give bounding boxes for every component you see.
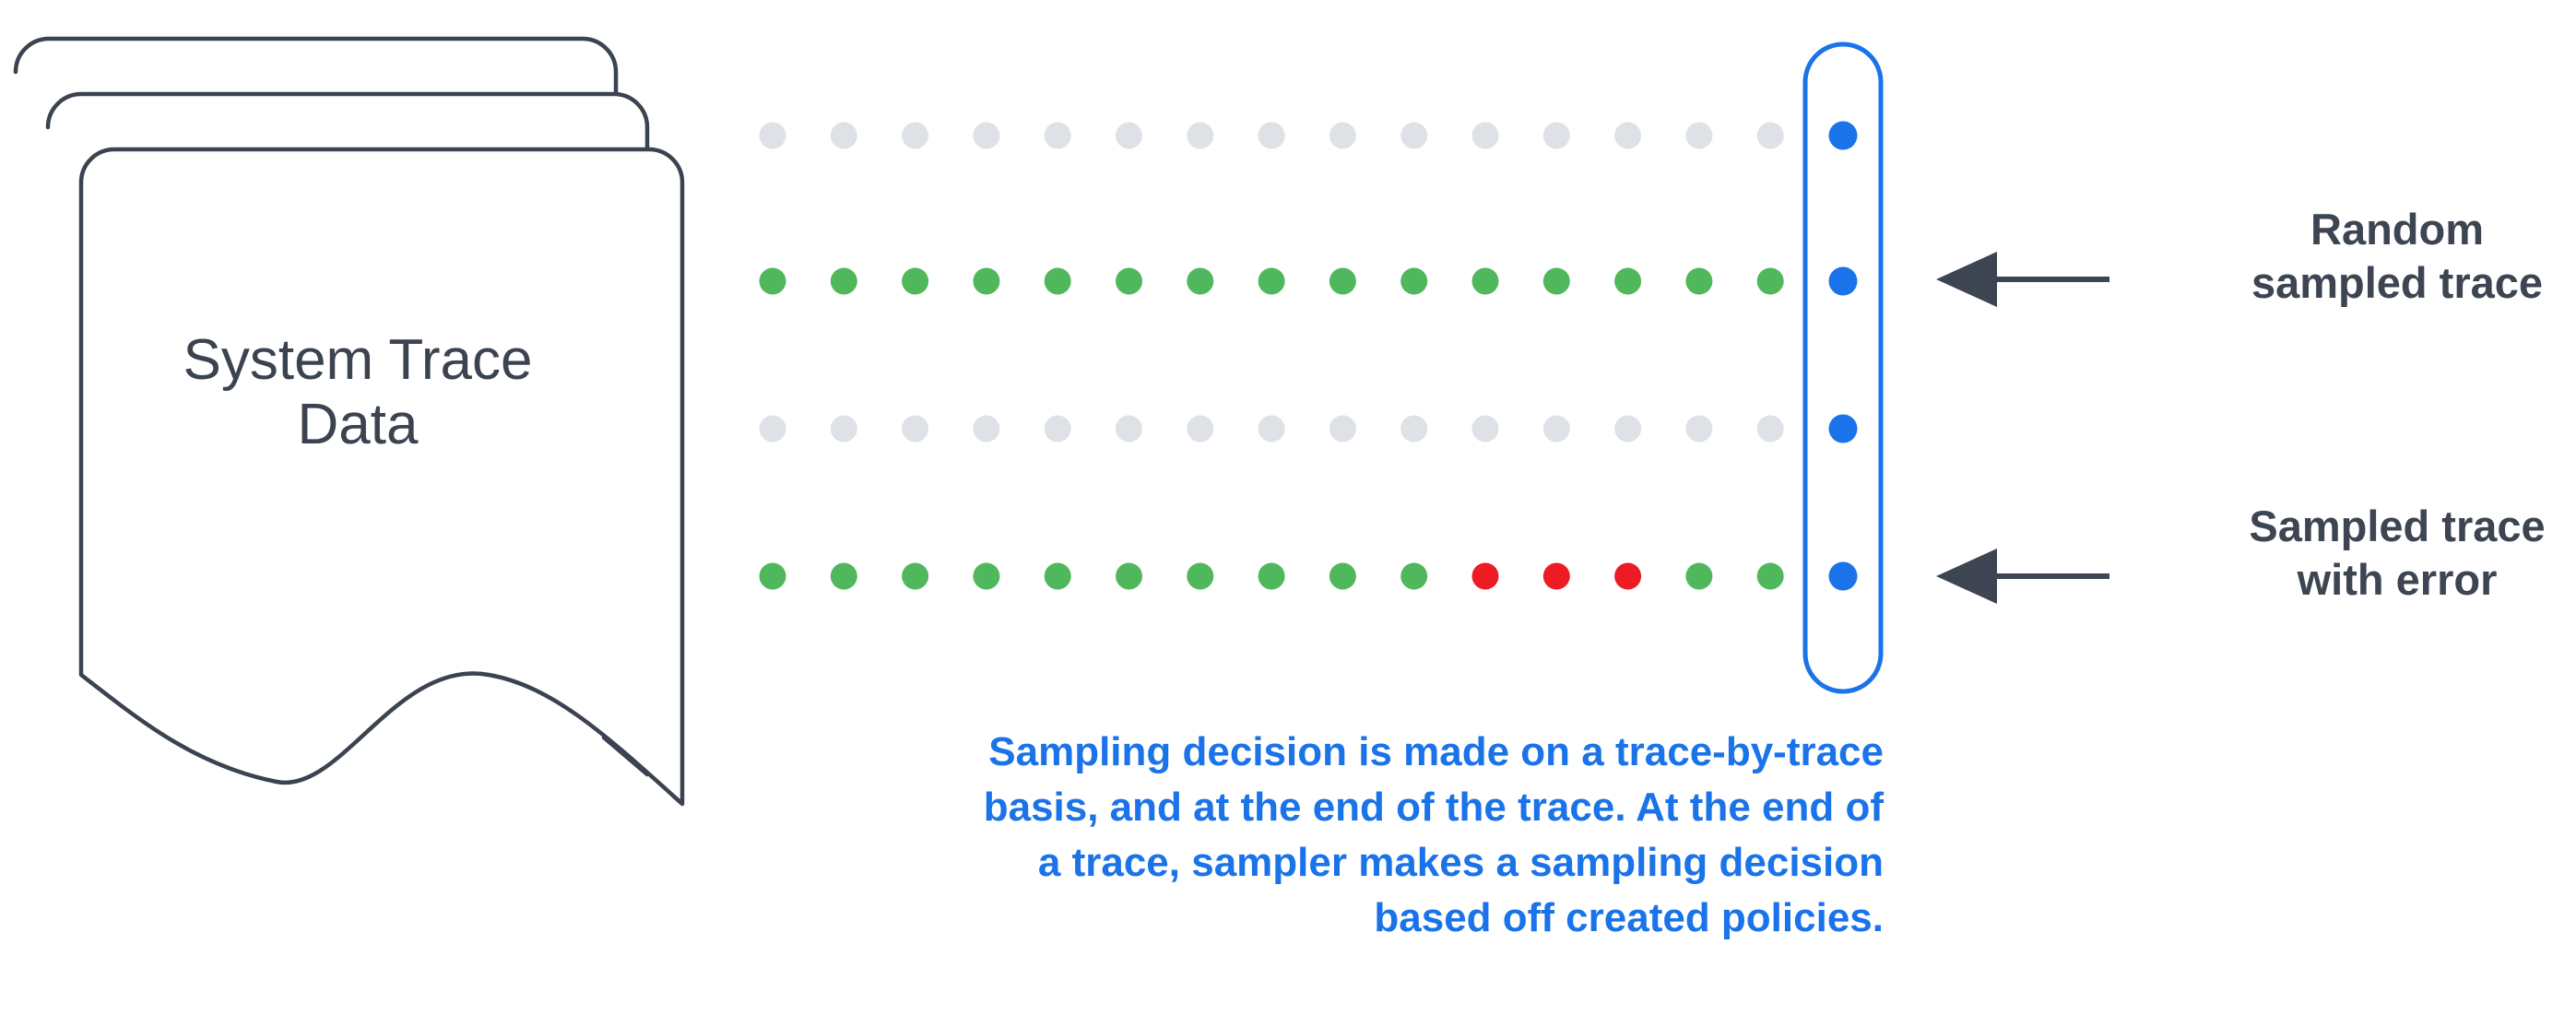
annotation-sampled-trace-with-error: Sampled trace with error xyxy=(1936,502,2546,604)
trace-span-dot-unsampled xyxy=(973,416,999,443)
arrow-left-icon xyxy=(1936,252,2109,307)
sampling-decision-dot xyxy=(1829,267,1858,296)
trace-span-dot-unsampled xyxy=(760,416,786,443)
trace-span-dot-error xyxy=(1543,563,1570,590)
trace-span-dot-ok xyxy=(831,268,857,295)
trace-span-dot-unsampled xyxy=(1400,416,1427,443)
trace-span-dot-ok xyxy=(902,563,928,590)
trace-span-dot-ok xyxy=(760,268,786,295)
trace-span-dot-unsampled xyxy=(831,123,857,149)
trace-span-dot-ok xyxy=(1258,563,1285,590)
trace-span-dot-ok xyxy=(1614,268,1641,295)
diagram-canvas: System Trace Data Random sampled trace S… xyxy=(0,0,2576,1027)
trace-sampling-diagram: System Trace Data Random sampled trace S… xyxy=(0,0,2576,1027)
trace-span-dot-unsampled xyxy=(1045,416,1071,443)
trace-span-dot-ok xyxy=(1400,563,1427,590)
trace-span-dot-ok xyxy=(831,563,857,590)
trace-span-dot-unsampled xyxy=(1472,416,1499,443)
trace-span-dot-unsampled xyxy=(1757,123,1784,149)
trace-span-dot-ok xyxy=(1757,268,1784,295)
trace-span-dot-unsampled xyxy=(1685,123,1712,149)
trace-span-dot-unsampled xyxy=(1258,123,1285,149)
annotation-label-line1: Sampled trace xyxy=(2249,502,2545,550)
sampling-decision-dot xyxy=(1829,122,1858,150)
unsampled-trace-row-1 xyxy=(760,122,1858,150)
trace-span-dot-unsampled xyxy=(1045,123,1071,149)
trace-span-dot-unsampled xyxy=(973,123,999,149)
caption-line-2: basis, and at the end of the trace. At t… xyxy=(984,785,1885,830)
trace-span-dot-ok xyxy=(1685,268,1712,295)
annotation-label-line2: with error xyxy=(2297,555,2498,604)
sampling-decision-dot xyxy=(1829,415,1858,443)
document-front-sheet xyxy=(81,149,682,804)
trace-span-dot-ok xyxy=(1757,563,1784,590)
trace-span-dot-unsampled xyxy=(1400,123,1427,149)
trace-span-dot-unsampled xyxy=(1187,123,1213,149)
trace-span-dot-ok xyxy=(973,563,999,590)
trace-span-dot-ok xyxy=(760,563,786,590)
annotation-label-line2: sampled trace xyxy=(2251,258,2543,307)
trace-span-dot-unsampled xyxy=(1116,416,1142,443)
trace-span-dot-ok xyxy=(1685,563,1712,590)
trace-span-dot-ok xyxy=(902,268,928,295)
trace-span-dot-ok xyxy=(1472,268,1499,295)
document-stack-icon: System Trace Data xyxy=(16,39,682,804)
caption-line-1: Sampling decision is made on a trace-by-… xyxy=(988,729,1884,774)
trace-span-dot-unsampled xyxy=(760,123,786,149)
trace-span-dot-ok xyxy=(1329,268,1356,295)
trace-span-dot-ok xyxy=(1116,563,1142,590)
annotation-label-line1: Random xyxy=(2310,205,2484,254)
trace-span-dot-ok xyxy=(1045,563,1071,590)
trace-span-dot-ok xyxy=(1258,268,1285,295)
document-label-line1: System Trace xyxy=(183,328,533,392)
trace-span-dot-unsampled xyxy=(1685,416,1712,443)
trace-span-dot-unsampled xyxy=(1116,123,1142,149)
caption-line-3: a trace, sampler makes a sampling decisi… xyxy=(1038,840,1884,885)
trace-span-dot-unsampled xyxy=(1258,416,1285,443)
trace-span-dot-unsampled xyxy=(1757,416,1784,443)
sampling-caption: Sampling decision is made on a trace-by-… xyxy=(984,729,1885,940)
trace-span-dot-unsampled xyxy=(1543,123,1570,149)
trace-span-dot-unsampled xyxy=(1543,416,1570,443)
unsampled-trace-row-2 xyxy=(760,415,1858,443)
trace-span-dot-ok xyxy=(1116,268,1142,295)
trace-span-dot-unsampled xyxy=(1329,123,1356,149)
trace-span-dot-error xyxy=(1614,563,1641,590)
trace-span-dot-unsampled xyxy=(1329,416,1356,443)
trace-span-dot-ok xyxy=(1329,563,1356,590)
trace-span-dot-unsampled xyxy=(831,416,857,443)
trace-span-dot-error xyxy=(1472,563,1499,590)
trace-span-dot-ok xyxy=(1187,563,1213,590)
trace-span-dot-unsampled xyxy=(1614,123,1641,149)
trace-rows-group xyxy=(760,122,1858,591)
trace-span-dot-unsampled xyxy=(1472,123,1499,149)
caption-line-4: based off created policies. xyxy=(1374,895,1884,940)
trace-span-dot-ok xyxy=(1187,268,1213,295)
trace-span-dot-unsampled xyxy=(902,416,928,443)
arrow-left-icon xyxy=(1936,549,2109,604)
trace-span-dot-unsampled xyxy=(902,123,928,149)
trace-span-dot-ok xyxy=(1543,268,1570,295)
error-sampled-trace-row xyxy=(760,562,1858,591)
trace-span-dot-ok xyxy=(1045,268,1071,295)
random-sampled-trace-row xyxy=(760,267,1858,296)
sampling-decision-dot xyxy=(1829,562,1858,591)
trace-span-dot-unsampled xyxy=(1187,416,1213,443)
document-label-line2: Data xyxy=(298,393,419,456)
trace-span-dot-ok xyxy=(1400,268,1427,295)
trace-span-dot-unsampled xyxy=(1614,416,1641,443)
annotation-random-sampled-trace: Random sampled trace xyxy=(1936,205,2543,307)
trace-span-dot-ok xyxy=(973,268,999,295)
